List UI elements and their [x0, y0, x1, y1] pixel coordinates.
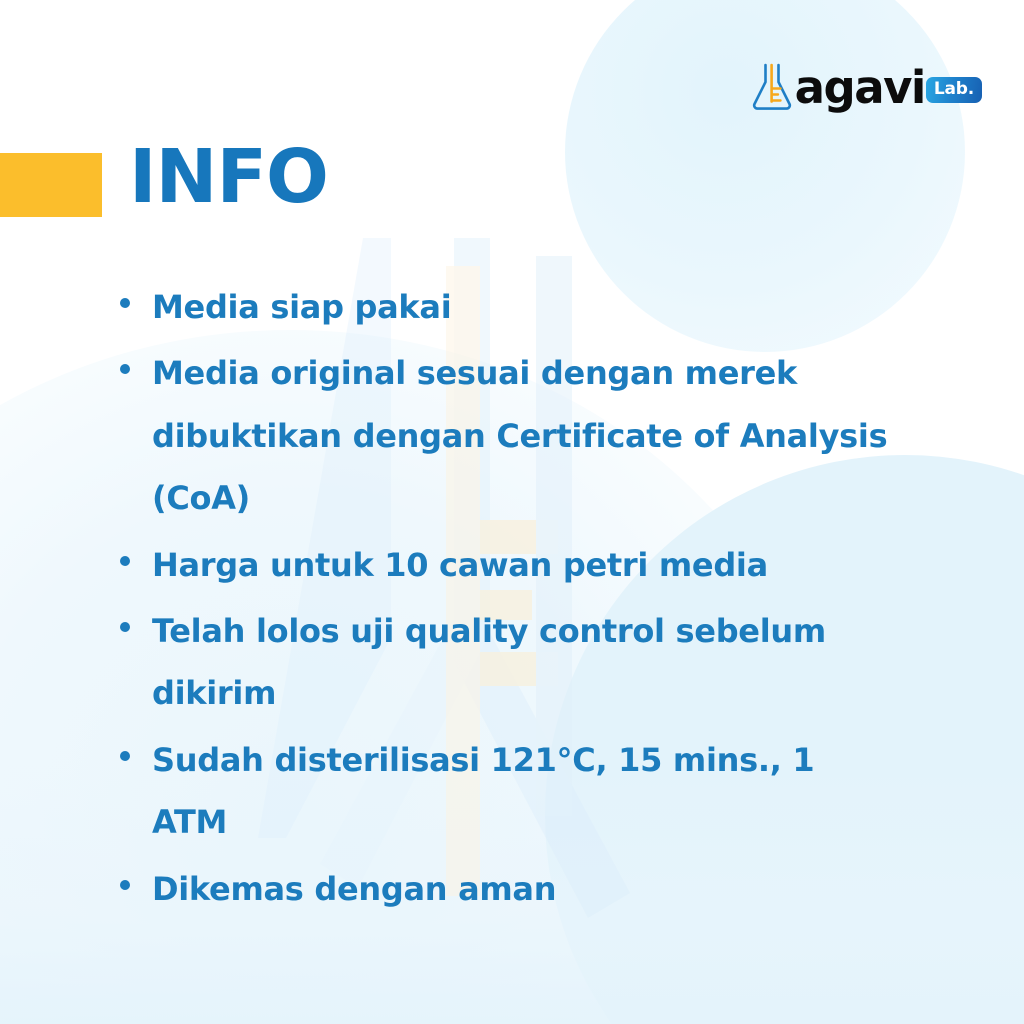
bullet-dot-icon [120, 556, 130, 566]
brand-wordmark: agavi [795, 65, 925, 110]
list-item-label: Media siap pakai [152, 276, 451, 338]
brand-lab-badge: Lab. [926, 77, 982, 103]
list-item: Dikemas dengan aman [120, 858, 960, 920]
list-item-label: Harga untuk 10 cawan petri media [152, 534, 768, 596]
list-item: Harga untuk 10 cawan petri media [120, 534, 960, 596]
page-title: INFO [129, 146, 328, 209]
list-item: Media original sesuai dengan merek dibuk… [120, 342, 960, 529]
info-bullet-list: Media siap pakai Media original sesuai d… [120, 276, 960, 924]
list-item-label: Dikemas dengan aman [152, 858, 556, 920]
list-item-label: Telah lolos uji quality control sebelum … [152, 600, 892, 725]
bullet-dot-icon [120, 622, 130, 632]
flask-icon [751, 62, 793, 110]
bullet-dot-icon [120, 298, 130, 308]
list-item-label: Media original sesuai dengan merek dibuk… [152, 342, 892, 529]
list-item: Sudah disterilisasi 121°C, 15 mins., 1 A… [120, 729, 960, 854]
page-title-row: INFO [0, 153, 328, 217]
bullet-dot-icon [120, 364, 130, 374]
list-item-label: Sudah disterilisasi 121°C, 15 mins., 1 A… [152, 729, 892, 854]
poster-canvas: agavi Lab. INFO Media siap pakai Media o… [0, 0, 1024, 1024]
bullet-dot-icon [120, 880, 130, 890]
bullet-dot-icon [120, 751, 130, 761]
list-item: Media siap pakai [120, 276, 960, 338]
brand-logo: agavi Lab. [751, 60, 982, 112]
list-item: Telah lolos uji quality control sebelum … [120, 600, 960, 725]
title-accent-bar [0, 153, 102, 217]
